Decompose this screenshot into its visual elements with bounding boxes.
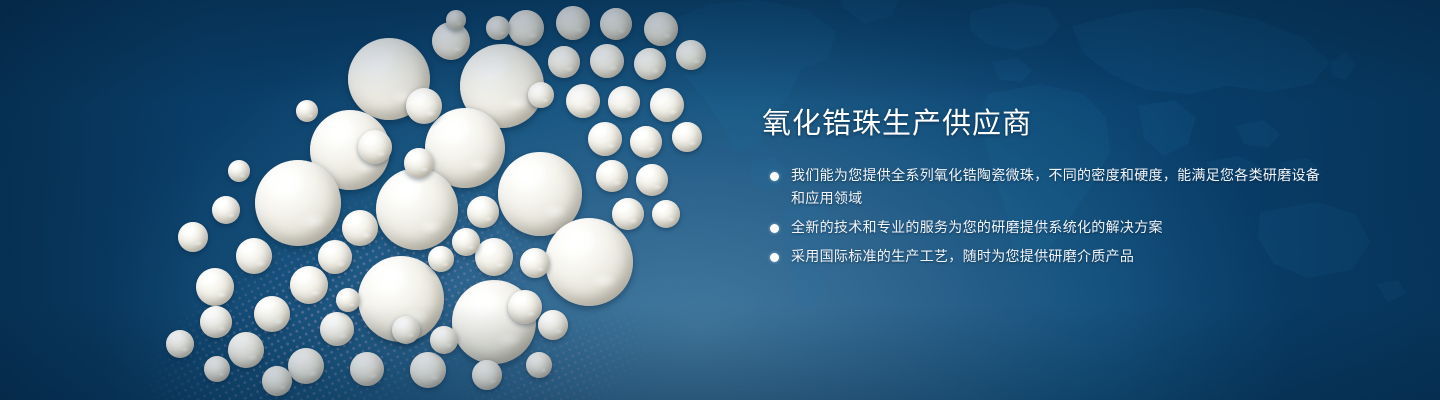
bullet-dot-icon — [770, 224, 779, 233]
bullet-dot-icon — [770, 172, 779, 181]
promo-banner: 氧化锆珠生产供应商 我们能为您提供全系列氧化锆陶瓷微珠，不同的密度和硬度，能满足… — [0, 0, 1440, 400]
feature-list-item: 采用国际标准的生产工艺，随时为您提供研磨介质产品 — [762, 245, 1322, 268]
feature-list: 我们能为您提供全系列氧化锆陶瓷微珠，不同的密度和硬度，能满足您各类研磨设备和应用… — [762, 164, 1322, 268]
feature-list-item: 我们能为您提供全系列氧化锆陶瓷微珠，不同的密度和硬度，能满足您各类研磨设备和应用… — [762, 164, 1322, 210]
feature-list-item: 全新的技术和专业的服务为您的研磨提供系统化的解决方案 — [762, 216, 1322, 239]
banner-content: 氧化锆珠生产供应商 我们能为您提供全系列氧化锆陶瓷微珠，不同的密度和硬度，能满足… — [762, 108, 1322, 268]
banner-title: 氧化锆珠生产供应商 — [762, 108, 1322, 140]
feature-text: 我们能为您提供全系列氧化锆陶瓷微珠，不同的密度和硬度，能满足您各类研磨设备和应用… — [791, 167, 1320, 206]
feature-text: 采用国际标准的生产工艺，随时为您提供研磨介质产品 — [791, 248, 1134, 264]
feature-text: 全新的技术和专业的服务为您的研磨提供系统化的解决方案 — [791, 219, 1163, 235]
bullet-dot-icon — [770, 253, 779, 262]
